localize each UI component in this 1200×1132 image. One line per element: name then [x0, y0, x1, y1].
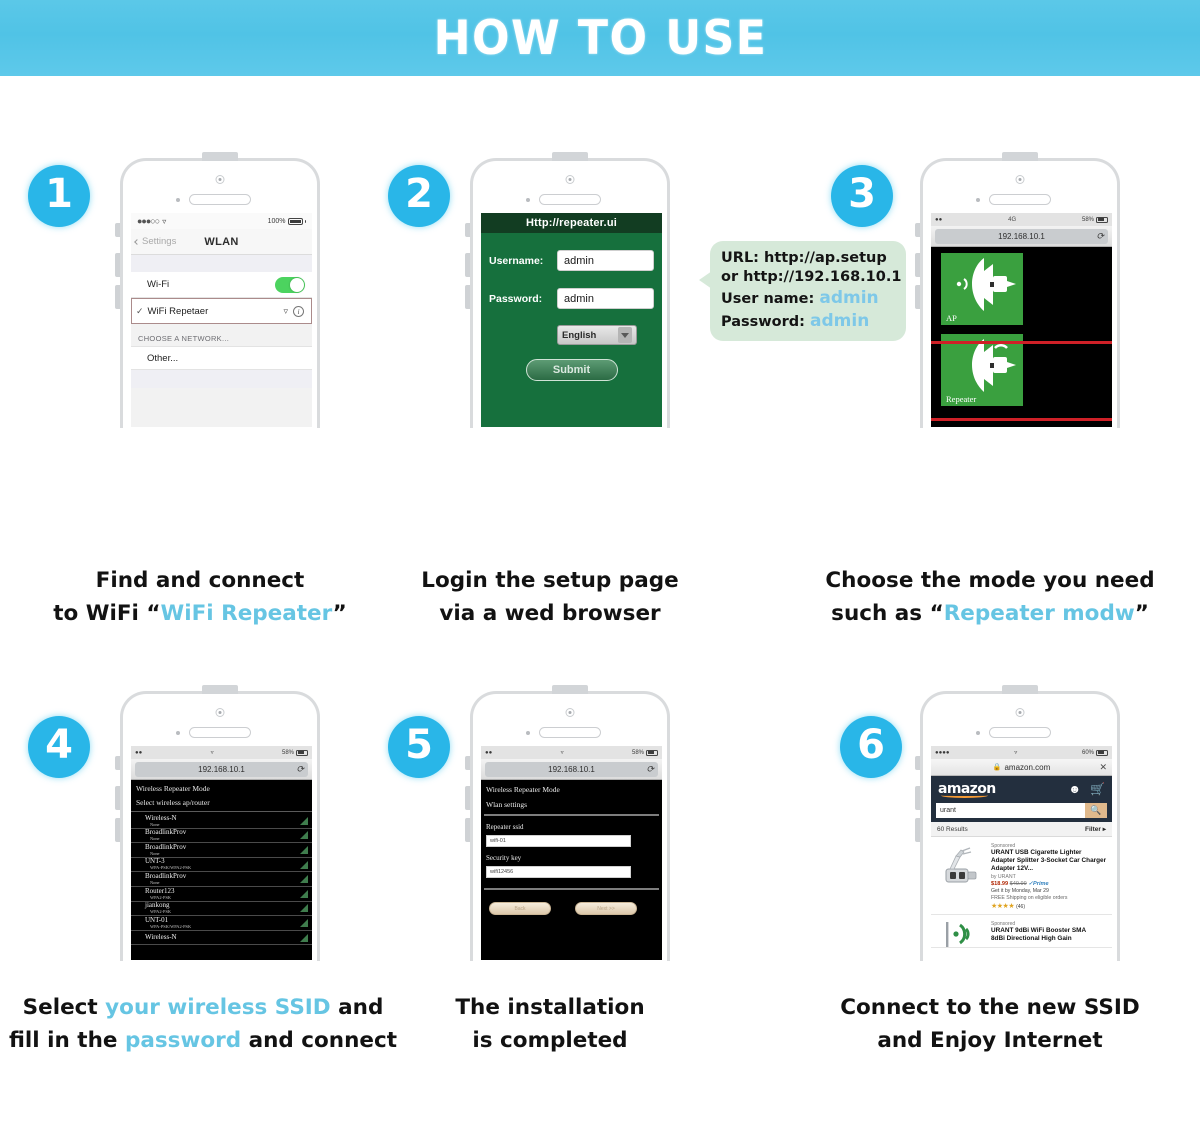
- step-3: 3 ●● 4G 58%: [785, 136, 1185, 656]
- battery-icon: [646, 750, 658, 756]
- earpiece-speaker: [989, 727, 1051, 738]
- repeater-login-page: Http://repeater.ui Username: admin Passw…: [481, 213, 662, 427]
- section-label: Wlan settings: [481, 794, 662, 814]
- caption-highlight: your wireless SSID: [105, 995, 330, 1020]
- security-key-input[interactable]: wifi12456: [486, 866, 631, 878]
- lock-icon: 🔒: [993, 763, 1002, 771]
- list-item[interactable]: UNT-3WPA-PSK/WPA2-PSK: [131, 858, 312, 873]
- step-number-6: 6: [857, 725, 885, 765]
- steps-grid: 1 ●●●○○ ▿: [0, 76, 1200, 1132]
- battery-icon: [288, 218, 303, 225]
- reload-icon[interactable]: ⟳: [1096, 231, 1104, 242]
- proximity-sensor-icon: [976, 198, 980, 202]
- battery-icon: [1096, 750, 1108, 756]
- mute-switch[interactable]: [115, 756, 120, 770]
- step-1-caption: Find and connect to WiFi “WiFi Repeater”: [0, 564, 400, 631]
- caption-line-2: via a wed browser: [350, 597, 750, 630]
- ssid-label: BroadlinkProv: [145, 844, 186, 851]
- phone-4-screen: ●● ▿ 58% 192.168.10.1 ⟳: [131, 746, 312, 960]
- product-title[interactable]: URANT 9dBi WiFi Booster SMA: [991, 927, 1107, 935]
- step-number-5: 5: [405, 725, 433, 765]
- back-button[interactable]: Back: [489, 902, 551, 915]
- caption-line-1: Login the setup page: [350, 564, 750, 597]
- front-camera-icon: [566, 175, 575, 184]
- wifi-icon: ▿: [561, 749, 564, 756]
- mute-switch[interactable]: [465, 223, 470, 237]
- step-badge-6: 6: [840, 716, 902, 778]
- phone-mockup-6: ●●●● ▿ 60% 🔒 amazon.com ✕: [920, 691, 1120, 961]
- amazon-nav-bar: amazon ☻ 🛒: [931, 776, 1112, 802]
- ios-spacer: [131, 255, 312, 272]
- volume-up-button[interactable]: [915, 253, 920, 277]
- ssid-label: BroadlinkProv: [145, 873, 186, 880]
- username-label: Username:: [489, 255, 557, 267]
- ssid-label: Wireless-N: [145, 815, 177, 822]
- password-input[interactable]: admin: [557, 288, 654, 309]
- search-icon[interactable]: 🔍: [1085, 803, 1107, 818]
- results-toolbar: 60 Results Filter ▸: [931, 822, 1112, 837]
- language-value: English: [562, 330, 596, 341]
- encryption-label: WPA2-PSK: [145, 910, 171, 914]
- proximity-sensor-icon: [176, 198, 180, 202]
- amazon-search-bar: urant 🔍: [931, 802, 1112, 822]
- password-field-row: Password: admin: [481, 288, 662, 309]
- battery-percent-label: 100%: [268, 218, 286, 225]
- front-camera-icon: [1016, 708, 1025, 717]
- phone-6-screen: ●●●● ▿ 60% 🔒 amazon.com ✕: [931, 746, 1112, 960]
- list-item[interactable]: jiankongWPA2-PSK: [131, 902, 312, 917]
- step-6: 6 ●●●● ▿ 60%: [785, 691, 1185, 1121]
- caption-prefix: fill in the: [9, 1028, 125, 1053]
- network-list: Wireless-NNone BroadlinkProvNone Broadli…: [131, 814, 312, 945]
- next-button[interactable]: Next >>: [575, 902, 637, 915]
- tiles-divider: [931, 325, 1112, 334]
- caption-line-2: is completed: [350, 1024, 750, 1057]
- signal-strength-icon: [300, 904, 308, 912]
- info-icon[interactable]: i: [293, 306, 304, 317]
- volume-down-button[interactable]: [115, 818, 120, 842]
- url-text: 192.168.10.1: [998, 232, 1045, 241]
- url-input[interactable]: 192.168.10.1 ⟳: [135, 762, 308, 777]
- reload-icon[interactable]: ⟳: [646, 764, 654, 775]
- close-icon[interactable]: ✕: [1099, 762, 1107, 773]
- front-camera-icon: [216, 175, 225, 184]
- ssid-label: Wireless-N: [145, 934, 177, 941]
- encryption-label: WPA-PSK/WPA2-PSK: [145, 925, 191, 929]
- step-badge-1: 1: [28, 165, 90, 227]
- ios-status-bar: ●●●○○ ▿ 100%: [131, 213, 312, 229]
- signal-strength-icon: [300, 875, 308, 883]
- phone-mockup-4: ●● ▿ 58% 192.168.10.1 ⟳: [120, 691, 320, 961]
- battery-icon: [1096, 217, 1108, 223]
- phone-mockup-1: ●●●○○ ▿ 100% Se: [120, 158, 320, 428]
- how-to-use-infographic: HOW TO USE 1 ●●●○○: [0, 0, 1200, 1132]
- caption-line-1: Connect to the new SSID: [780, 991, 1200, 1024]
- battery-percent-label: 58%: [1082, 217, 1094, 223]
- step-number-2: 2: [405, 174, 433, 214]
- reload-icon[interactable]: ⟳: [296, 764, 304, 775]
- close-quote: ”: [1135, 601, 1149, 626]
- volume-down-button[interactable]: [915, 285, 920, 309]
- battery-percent-label: 58%: [632, 750, 644, 756]
- step-2-caption: Login the setup page via a wed browser: [350, 564, 750, 631]
- prime-badge: ✓Prime: [1028, 881, 1048, 887]
- phone-top-notch: [202, 152, 238, 161]
- repeater-ssid-label: Repeater ssid: [481, 816, 662, 831]
- browser-status-bar: ●● 4G 58%: [931, 213, 1112, 226]
- proximity-sensor-icon: [176, 731, 180, 735]
- open-quote: “: [146, 601, 160, 626]
- step-4: 4 ●● ▿ 58%: [0, 691, 400, 1121]
- step-number-1: 1: [45, 174, 73, 214]
- volume-up-button[interactable]: [115, 253, 120, 277]
- product-price: $18.99 $49.99 ✓Prime: [991, 881, 1107, 887]
- encryption-label: None: [145, 837, 186, 841]
- volume-down-button[interactable]: [465, 818, 470, 842]
- car-charger-adapter-icon: [936, 843, 988, 895]
- language-select[interactable]: English: [557, 325, 637, 345]
- rating-stars: ★★★★: [991, 903, 1014, 910]
- phone-1-screen: ●●●○○ ▿ 100% Se: [131, 213, 312, 427]
- battery-percent-label: 58%: [282, 750, 294, 756]
- product-card[interactable]: Sponsored URANT 9dBi WiFi Booster SMA 8d…: [931, 915, 1112, 948]
- step-1: 1 ●●●○○ ▿: [0, 136, 400, 656]
- account-icon[interactable]: ☻: [1068, 782, 1081, 796]
- battery-tip-icon: [305, 220, 307, 223]
- close-quote: ”: [333, 601, 347, 626]
- battery-icon: [296, 750, 308, 756]
- encryption-label: None: [145, 852, 186, 856]
- list-item[interactable]: BroadlinkProvNone: [131, 872, 312, 887]
- encryption-label: WPA2-PSK: [145, 896, 175, 900]
- earpiece-speaker: [539, 727, 601, 738]
- earpiece-speaker: [989, 194, 1051, 205]
- network-type-label: 4G: [1008, 217, 1016, 223]
- proximity-sensor-icon: [526, 731, 530, 735]
- price-current: $18.99: [991, 881, 1008, 887]
- step-3-caption: Choose the mode you need such as “Repeat…: [780, 564, 1200, 631]
- wifi-label: Wi-Fi: [147, 279, 169, 290]
- product-rating[interactable]: ★★★★(46): [991, 902, 1107, 910]
- page-title: HOW TO USE: [433, 11, 767, 66]
- ios-bottom-spacer: [131, 370, 312, 388]
- caption-line-2: and Enjoy Internet: [780, 1024, 1200, 1057]
- step-number-3: 3: [848, 174, 876, 214]
- wifi-toggle-switch[interactable]: [275, 277, 305, 293]
- mute-switch[interactable]: [915, 223, 920, 237]
- battery-percent-label: 60%: [1082, 750, 1094, 756]
- mute-switch[interactable]: [465, 756, 470, 770]
- wifi-booster-antenna-icon: [936, 921, 988, 947]
- page-url-title: Http://repeater.ui: [481, 213, 662, 233]
- signal-dots-icon: ●●●●: [935, 750, 950, 756]
- other-network-row[interactable]: Other...: [131, 346, 312, 370]
- caption-prefix: Select: [23, 995, 106, 1020]
- step-badge-5: 5: [388, 716, 450, 778]
- product-free-shipping: FREE Shipping on eligible orders: [991, 895, 1107, 901]
- encryption-label: WPA-PSK/WPA2-PSK: [145, 866, 191, 870]
- section-label: Select wireless ap/router: [131, 793, 312, 812]
- step-badge-4: 4: [28, 716, 90, 778]
- url-input[interactable]: 192.168.10.1 ⟳: [935, 229, 1108, 244]
- mode-tile-ap[interactable]: AP: [941, 253, 1023, 325]
- product-info: Sponsored URANT USB Cigarette Lighter Ad…: [988, 843, 1107, 910]
- caption-line-2: to WiFi “WiFi Repeater”: [0, 597, 400, 630]
- signal-strength-icon: [300, 861, 308, 869]
- wifi-icon: ▿: [162, 217, 166, 226]
- header-banner: HOW TO USE: [0, 0, 1200, 76]
- step-badge-3: 3: [831, 165, 893, 227]
- ssid-label: UNT-3: [145, 858, 191, 865]
- caption-line-1: Find and connect: [0, 564, 400, 597]
- list-item[interactable]: BroadlinkProvNone: [131, 843, 312, 858]
- browser-address-bar: 192.168.10.1 ⟳: [931, 226, 1112, 247]
- open-quote: “: [930, 601, 944, 626]
- encryption-label: None: [145, 823, 177, 827]
- caption-highlight: password: [125, 1028, 241, 1053]
- caption-line-2: such as “Repeater modw”: [780, 597, 1200, 630]
- phone-top-notch: [552, 152, 588, 161]
- caption-line-1: Choose the mode you need: [780, 564, 1200, 597]
- form-buttons: Back Next >>: [481, 890, 662, 915]
- phone-top-notch: [1002, 685, 1038, 694]
- product-title[interactable]: URANT USB Cigarette Lighter Adapter Spli…: [991, 849, 1107, 873]
- earpiece-speaker: [189, 727, 251, 738]
- repeater-mode-highlight: [931, 341, 1112, 421]
- front-camera-icon: [566, 708, 575, 717]
- product-brand: by URANT: [991, 874, 1107, 880]
- amazon-search-results: ●●●● ▿ 60% 🔒 amazon.com ✕: [931, 746, 1112, 960]
- wifi-icon: ▿: [211, 749, 214, 756]
- front-camera-icon: [216, 708, 225, 717]
- phone-mockup-2: Http://repeater.ui Username: admin Passw…: [470, 158, 670, 428]
- choose-network-header: CHOOSE A NETWORK...: [131, 324, 312, 346]
- filter-button[interactable]: Filter ▸: [1085, 825, 1106, 833]
- wifi-toggle-row[interactable]: Wi-Fi: [131, 272, 312, 298]
- step-number-4: 4: [45, 725, 73, 765]
- router-ap-icon: [941, 253, 1023, 315]
- password-label: Password:: [489, 293, 557, 305]
- mute-switch[interactable]: [915, 756, 920, 770]
- url-text: 192.168.10.1: [548, 765, 595, 774]
- browser-address-bar: 192.168.10.1 ⟳: [131, 759, 312, 780]
- cart-icon[interactable]: 🛒: [1090, 782, 1105, 796]
- checkmark-icon: ✓: [136, 306, 144, 317]
- mute-switch[interactable]: [115, 223, 120, 237]
- signal-dots-icon: ●●: [135, 750, 142, 756]
- product-shipping-date: Get it by Monday, Mar 29: [991, 888, 1107, 894]
- volume-up-button[interactable]: [465, 786, 470, 810]
- phone-top-notch: [1002, 152, 1038, 161]
- search-input[interactable]: urant: [936, 803, 1085, 818]
- list-item[interactable]: Wireless-NNone: [131, 814, 312, 829]
- signal-strength-icon: [300, 817, 308, 825]
- ap-list-browser: ●● ▿ 58% 192.168.10.1 ⟳: [131, 746, 312, 960]
- page-title: Wireless Repeater Mode: [481, 780, 662, 794]
- ssid-label: BroadlinkProv: [145, 829, 186, 836]
- volume-up-button[interactable]: [465, 253, 470, 277]
- volume-down-button[interactable]: [915, 818, 920, 842]
- repeater-ssid-input[interactable]: wifi-01: [486, 835, 631, 847]
- browser-address-bar[interactable]: 🔒 amazon.com ✕: [931, 759, 1112, 776]
- signal-dots-icon: ●●●○○: [137, 216, 159, 226]
- username-field-row: Username: admin: [481, 250, 662, 271]
- browser-status-bar: ●● ▿ 58%: [481, 746, 662, 759]
- url-text: amazon.com: [1004, 763, 1050, 772]
- phone-top-notch: [552, 685, 588, 694]
- caption-line-1: The installation: [350, 991, 750, 1024]
- signal-strength-icon: [300, 846, 308, 854]
- connected-network-row[interactable]: ✓ WiFi Repetaer ▿ i: [131, 298, 312, 324]
- list-item[interactable]: BroadlinkProvNone: [131, 829, 312, 844]
- page-title: Wireless Repeater Mode: [131, 780, 312, 793]
- phone-mockup-3: ●● 4G 58% 192.168.10.1 ⟳: [920, 158, 1120, 428]
- product-card[interactable]: Sponsored URANT USB Cigarette Lighter Ad…: [931, 837, 1112, 915]
- step-2: 2 Http://repeater.ui Username: admin: [350, 136, 750, 656]
- list-item[interactable]: Router123WPA2-PSK: [131, 887, 312, 902]
- submit-button[interactable]: Submit: [526, 359, 618, 381]
- nav-title: WLAN: [131, 236, 312, 248]
- encryption-label: None: [145, 881, 186, 885]
- username-input[interactable]: admin: [557, 250, 654, 271]
- step-6-caption: Connect to the new SSID and Enjoy Intern…: [780, 991, 1200, 1058]
- security-key-label: Security key: [481, 847, 662, 862]
- results-count-label: 60 Results: [937, 826, 968, 833]
- browser-status-bar: ●● ▿ 58%: [131, 746, 312, 759]
- volume-down-button[interactable]: [115, 285, 120, 309]
- proximity-sensor-icon: [526, 198, 530, 202]
- ssid-label: UNT-01: [145, 917, 191, 924]
- wifi-icon: ▿: [283, 306, 288, 317]
- url-input[interactable]: 192.168.10.1 ⟳: [485, 762, 658, 777]
- signal-strength-icon: [300, 919, 308, 927]
- list-item[interactable]: UNT-01WPA-PSK/WPA2-PSK: [131, 916, 312, 931]
- review-count: (46): [1016, 904, 1025, 910]
- step-badge-2: 2: [388, 165, 450, 227]
- browser-address-bar: 192.168.10.1 ⟳: [481, 759, 662, 780]
- step-5-caption: The installation is completed: [350, 991, 750, 1058]
- signal-dots-icon: ●●: [485, 750, 492, 756]
- signal-strength-icon: [300, 890, 308, 898]
- caption-highlight: Repeater modw: [944, 601, 1135, 626]
- earpiece-speaker: [539, 194, 601, 205]
- volume-down-button[interactable]: [465, 285, 470, 309]
- step-5: 5 ●● ▿ 58%: [350, 691, 750, 1121]
- list-item[interactable]: Wireless-N: [131, 931, 312, 946]
- ssid-label: jiankong: [145, 902, 171, 909]
- product-thumbnail: [936, 843, 988, 895]
- mode-tile-label: AP: [946, 313, 957, 323]
- ios-nav-bar: Settings WLAN: [131, 229, 312, 255]
- price-was: $49.99: [1010, 881, 1027, 887]
- network-ssid-label: WiFi Repetaer: [148, 306, 209, 317]
- phone-top-notch: [202, 685, 238, 694]
- signal-strength-icon: [300, 934, 308, 942]
- caption-prefix: to WiFi: [53, 601, 146, 626]
- product-thumbnail: [936, 921, 988, 947]
- phone-2-screen: Http://repeater.ui Username: admin Passw…: [481, 213, 662, 427]
- earpiece-speaker: [189, 194, 251, 205]
- wifi-icon: ▿: [1014, 749, 1017, 756]
- browser-status-bar: ●●●● ▿ 60%: [931, 746, 1112, 759]
- signal-strength-icon: [300, 831, 308, 839]
- volume-up-button[interactable]: [115, 786, 120, 810]
- front-camera-icon: [1016, 175, 1025, 184]
- product-title-line2[interactable]: 8dBi Directional High Gain: [991, 935, 1107, 943]
- wlan-settings-browser: ●● ▿ 58% 192.168.10.1 ⟳: [481, 746, 662, 960]
- product-info: Sponsored URANT 9dBi WiFi Booster SMA 8d…: [988, 921, 1107, 947]
- chevron-down-icon: [618, 327, 632, 343]
- ssid-label: Router123: [145, 888, 175, 895]
- caption-highlight: WiFi Repeater: [161, 601, 333, 626]
- volume-up-button[interactable]: [915, 786, 920, 810]
- phone-mockup-5: ●● ▿ 58% 192.168.10.1 ⟳: [470, 691, 670, 961]
- amazon-logo[interactable]: amazon: [938, 781, 996, 797]
- proximity-sensor-icon: [976, 731, 980, 735]
- signal-dots-icon: ●●: [935, 217, 942, 223]
- caption-prefix: such as: [831, 601, 929, 626]
- phone-5-screen: ●● ▿ 58% 192.168.10.1 ⟳: [481, 746, 662, 960]
- phone-3-screen: ●● 4G 58% 192.168.10.1 ⟳: [931, 213, 1112, 427]
- ios-wlan-settings: ●●●○○ ▿ 100% Se: [131, 213, 312, 427]
- url-text: 192.168.10.1: [198, 765, 245, 774]
